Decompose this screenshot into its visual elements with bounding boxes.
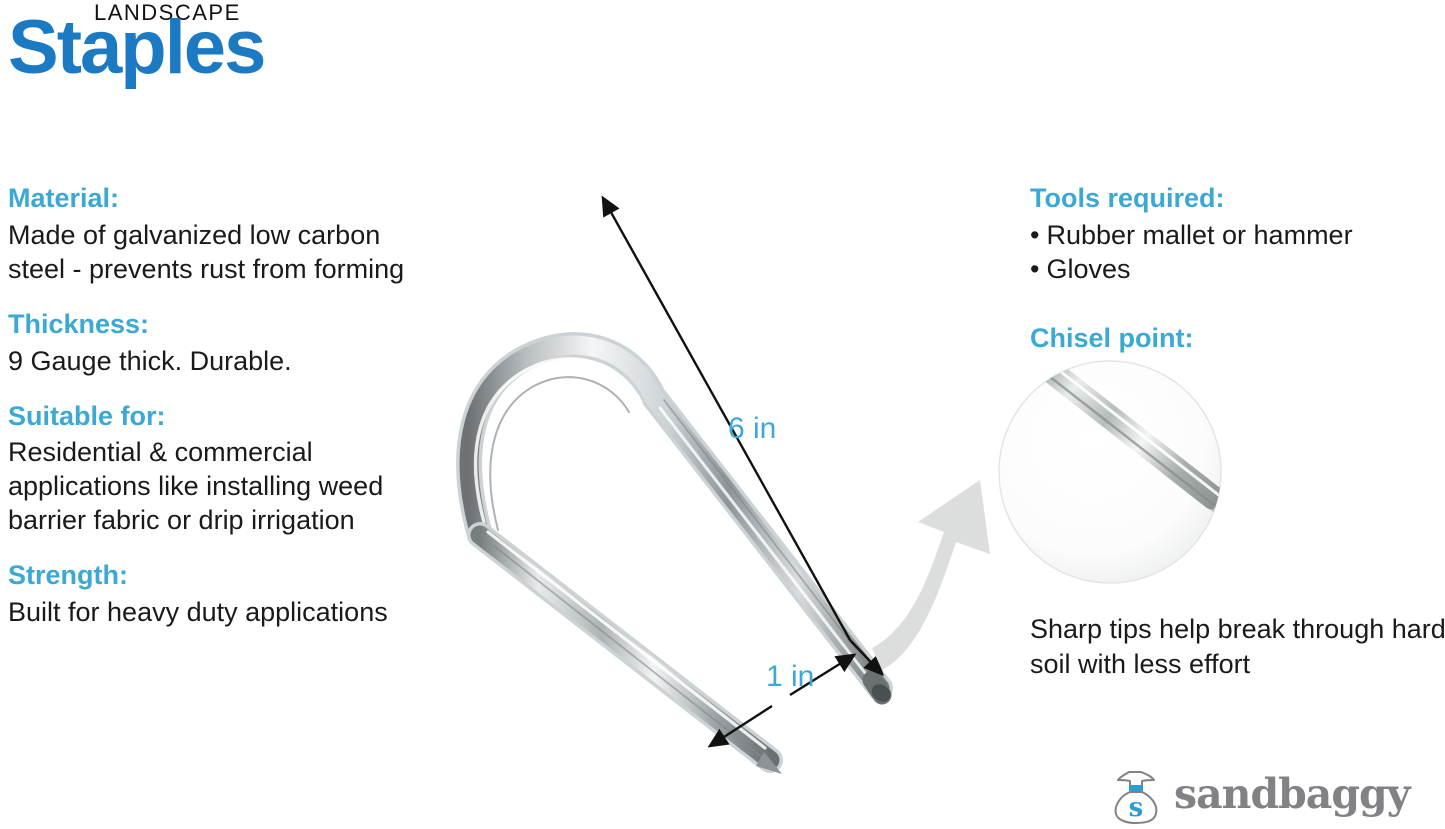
- spec-section-suitable-for: Suitable for: Residential & commercial a…: [8, 400, 408, 538]
- sandbaggy-wordmark: sandbaggy: [1174, 774, 1410, 815]
- spec-section-strength: Strength: Built for heavy duty applicati…: [8, 559, 408, 629]
- spec-heading-thickness: Thickness:: [8, 308, 408, 342]
- logo-wordmark-text: Staples: [8, 10, 264, 86]
- sandbag-icon: s: [1108, 768, 1168, 824]
- landscape-staples-logo: LANDSCAPE Staples: [8, 0, 388, 110]
- staple-body: [469, 345, 894, 774]
- spec-body-material: Made of galvanized low carbon steel - pr…: [8, 218, 408, 286]
- spec-section-material: Material: Made of galvanized low carbon …: [8, 182, 408, 286]
- svg-text:s: s: [1129, 793, 1144, 823]
- curved-callout-arrow: [872, 480, 990, 670]
- left-spec-column: Material: Made of galvanized low carbon …: [8, 182, 408, 651]
- spec-heading-suitable-for: Suitable for:: [8, 400, 408, 434]
- spec-body-strength: Built for heavy duty applications: [8, 595, 408, 629]
- spec-body-suitable-for: Residential & commercial applications li…: [8, 435, 408, 537]
- spec-section-thickness: Thickness: 9 Gauge thick. Durable.: [8, 308, 408, 378]
- spec-heading-material: Material:: [8, 182, 408, 216]
- spec-body-thickness: 9 Gauge thick. Durable.: [8, 344, 408, 378]
- dimension-label-width: 1 in: [766, 662, 814, 692]
- product-artwork: [420, 150, 1300, 810]
- spec-heading-strength: Strength:: [8, 559, 408, 593]
- chisel-point-magnifier: [862, 353, 1240, 607]
- infographic-page: LANDSCAPE Staples Material: Made of galv…: [0, 0, 1445, 829]
- dimension-label-length: 6 in: [728, 414, 776, 444]
- sandbaggy-logo: s sandbaggy: [1108, 768, 1443, 826]
